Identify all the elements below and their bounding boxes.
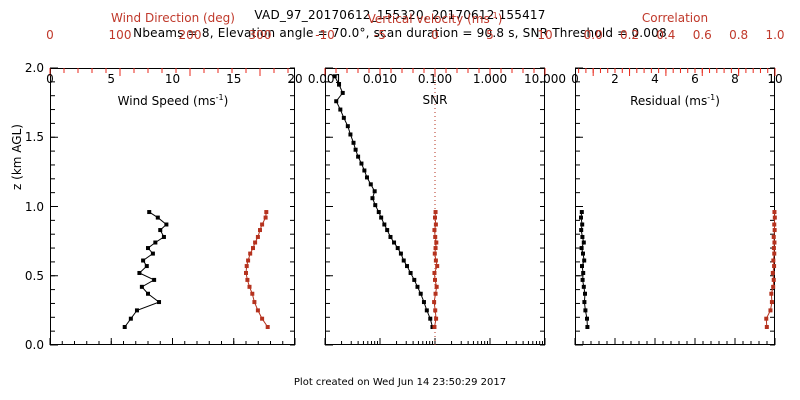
x-tick-label: 6 xyxy=(691,72,699,86)
y-tick-label: 0.0 xyxy=(25,338,44,352)
x-tick-label: 2 xyxy=(611,72,619,86)
top-x-tick-label: 0.6 xyxy=(693,28,712,42)
x-tick-label: 5 xyxy=(107,72,115,86)
series-residual xyxy=(579,210,589,329)
x-tick-label: 15 xyxy=(226,72,241,86)
panel-residual: Correlation Residual (ms-1) 02468100.00.… xyxy=(575,68,775,345)
top-x-tick-label: 0.8 xyxy=(729,28,748,42)
x-tick-label: 10 xyxy=(767,72,782,86)
top-x-tick-label: -5 xyxy=(374,28,386,42)
vertical-velocity-axis-title: Vertical velocity (ms-1) xyxy=(305,11,565,26)
series-vertical-velocity xyxy=(432,210,439,329)
x-tick-label: 8 xyxy=(731,72,739,86)
series-wind-speed xyxy=(123,210,169,329)
y-tick-label: 1.5 xyxy=(25,130,44,144)
top-x-tick-label: 1.0 xyxy=(765,28,784,42)
y-tick-label: 0.5 xyxy=(25,269,44,283)
series-correlation xyxy=(764,210,777,329)
x-tick-label: 20 xyxy=(287,72,302,86)
y-axis-label: z (km AGL) xyxy=(10,107,24,207)
top-x-tick-label: 0 xyxy=(46,28,54,42)
correlation-axis-title: Correlation xyxy=(545,11,800,25)
x-tick-label: 0 xyxy=(46,72,54,86)
panel-wind-plot xyxy=(50,68,295,345)
panel-residual-plot xyxy=(575,68,775,345)
top-x-tick-label: 0 xyxy=(431,28,439,42)
vad-plot-figure: VAD_97_20170612_155320, 20170612.155417 … xyxy=(0,0,800,400)
wind-direction-axis-title: Wind Direction (deg) xyxy=(43,11,303,25)
top-x-tick-label: 0.2 xyxy=(620,28,639,42)
panel-wind: Wind Direction (deg) Wind Speed (ms-1) 0… xyxy=(50,68,295,345)
top-x-tick-label: 10 xyxy=(537,28,552,42)
y-tick-label: 1.0 xyxy=(25,200,44,214)
top-x-tick-label: 100 xyxy=(109,28,132,42)
series-wind-direction xyxy=(244,210,270,329)
y-tick-label: 2.0 xyxy=(25,61,44,75)
top-x-tick-label: 5 xyxy=(486,28,494,42)
figure-footer-timestamp: Plot created on Wed Jun 14 23:50:29 2017 xyxy=(0,377,800,388)
panel-snr: Vertical velocity (ms-1) SNR 0.0010.0100… xyxy=(325,68,545,345)
x-tick-label: 0.010 xyxy=(363,72,397,86)
top-x-tick-label: -10 xyxy=(315,28,335,42)
x-tick-label: 1.000 xyxy=(473,72,507,86)
top-x-tick-label: 0.0 xyxy=(584,28,603,42)
top-x-tick-label: 200 xyxy=(179,28,202,42)
residual-axis-title: Residual (ms-1) xyxy=(545,93,800,108)
x-tick-label: 0 xyxy=(571,72,579,86)
top-x-tick-label: 0.4 xyxy=(656,28,675,42)
x-tick-label: 10 xyxy=(165,72,180,86)
x-tick-label: 0.001 xyxy=(308,72,342,86)
x-tick-label: 0.100 xyxy=(418,72,452,86)
wind-speed-axis-title: Wind Speed (ms-1) xyxy=(43,93,303,108)
x-tick-label: 10.000 xyxy=(524,72,566,86)
snr-axis-title: SNR xyxy=(305,93,565,107)
series-snr xyxy=(333,74,435,329)
x-tick-label: 4 xyxy=(651,72,659,86)
panel-snr-plot xyxy=(325,68,545,345)
top-x-tick-label: 300 xyxy=(249,28,272,42)
